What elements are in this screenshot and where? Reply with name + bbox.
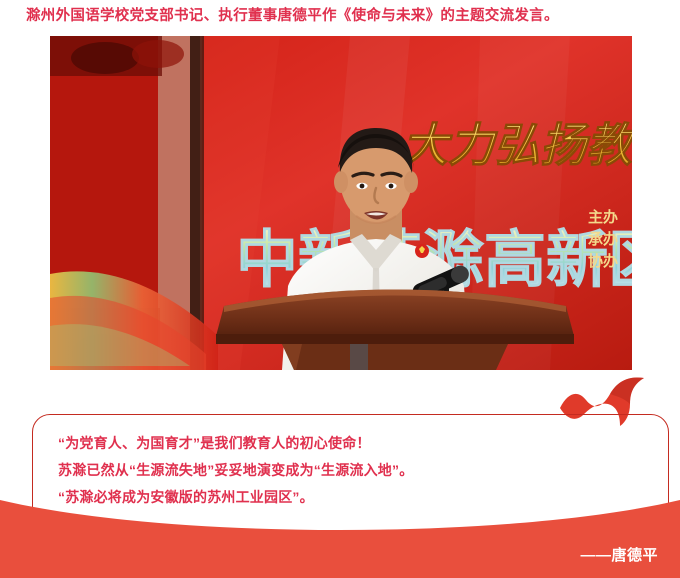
banner-curve-shape [0, 498, 680, 578]
svg-text:协办: 协办 [588, 252, 618, 270]
article-page: 滁州外国语学校党支部书记、执行董事唐德平作《使命与未来》的主题交流发言。 [0, 0, 680, 578]
banner-headline-text: 大力弘扬教 [402, 120, 632, 171]
speaker-photo: 大力弘扬教 中新苏滁高新区 主办 承办 协办 [50, 36, 632, 370]
bottom-banner: ——唐德平 [0, 498, 680, 578]
quote-signature: ——唐德平 [580, 544, 658, 565]
quote-line-1: “为党育人、为国育才”是我们教育人的初心使命！ [58, 430, 658, 457]
svg-text:主办: 主办 [588, 208, 618, 226]
speaker-photo-illustration: 大力弘扬教 中新苏滁高新区 主办 承办 协办 [50, 36, 632, 370]
svg-text:承办: 承办 [588, 230, 618, 248]
photo-caption: 滁州外国语学校党支部书记、执行董事唐德平作《使命与未来》的主题交流发言。 [26, 6, 666, 26]
quote-line-2: 苏滁已然从“生源流失地”妥妥地演变成为“生源流入地”。 [58, 457, 658, 484]
banner-side-credits: 主办 承办 协办 [588, 208, 618, 270]
